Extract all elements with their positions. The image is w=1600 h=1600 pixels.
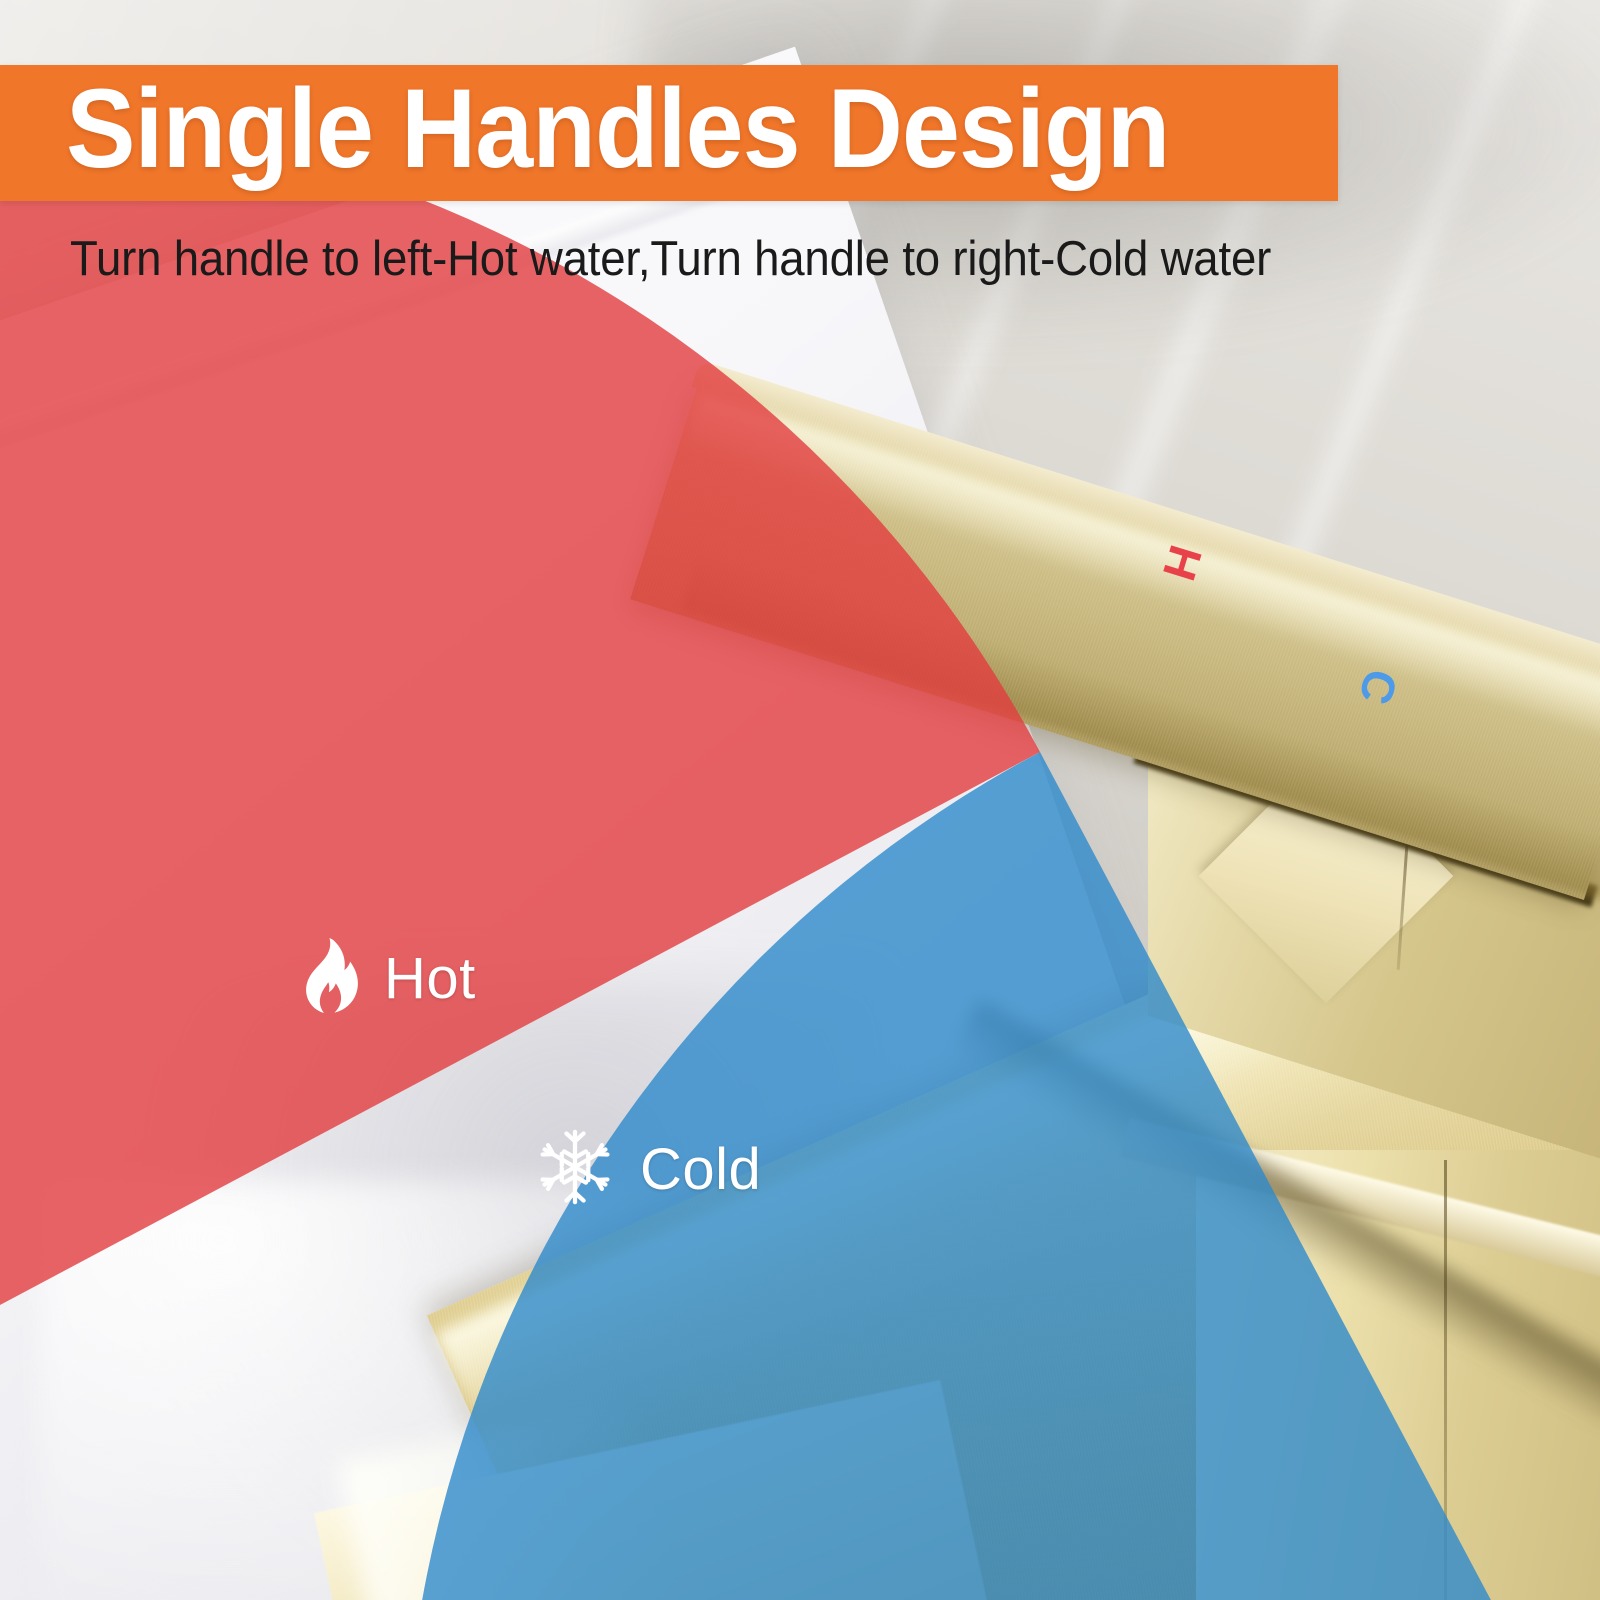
hot-label-text: Hot [384, 950, 476, 1008]
hot-label-group: Hot [296, 938, 476, 1019]
cold-label-group: Cold [536, 1128, 761, 1211]
snowflake-icon [536, 1128, 614, 1211]
cold-label-text: Cold [640, 1141, 761, 1199]
infographic-canvas: H C Hot [0, 0, 1600, 1600]
page-title: Single Handles Design [66, 61, 1169, 197]
title-banner: Single Handles Design [0, 65, 1338, 201]
hot-cold-direction-overlay [1040, 752, 1600, 1600]
subtitle-text: Turn handle to left-Hot water,Turn handl… [70, 228, 1428, 290]
flame-icon [296, 938, 358, 1019]
